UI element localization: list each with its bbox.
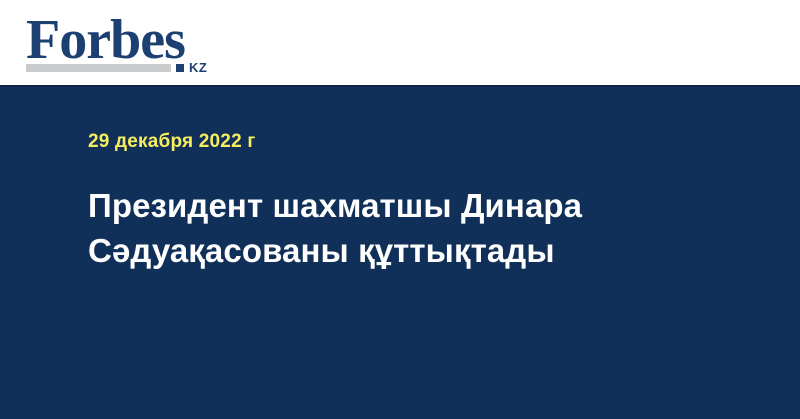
logo-country-suffix: KZ bbox=[189, 61, 207, 74]
logo-rule-divider bbox=[26, 64, 171, 72]
site-header: Forbes KZ bbox=[0, 0, 800, 85]
forbes-wordmark: Forbes bbox=[26, 12, 185, 68]
forbes-square-mark-icon bbox=[176, 64, 184, 72]
forbes-kz-article-card: Forbes KZ 29 декабря 2022 г Президент ша… bbox=[0, 0, 800, 419]
article-headline[interactable]: Президент шахматшы Динара Сәдуақасованы … bbox=[88, 183, 728, 273]
article-card: 29 декабря 2022 г Президент шахматшы Дин… bbox=[0, 85, 800, 419]
article-date: 29 декабря 2022 г bbox=[88, 131, 255, 153]
forbes-kz-logo[interactable]: Forbes KZ bbox=[26, 12, 236, 74]
